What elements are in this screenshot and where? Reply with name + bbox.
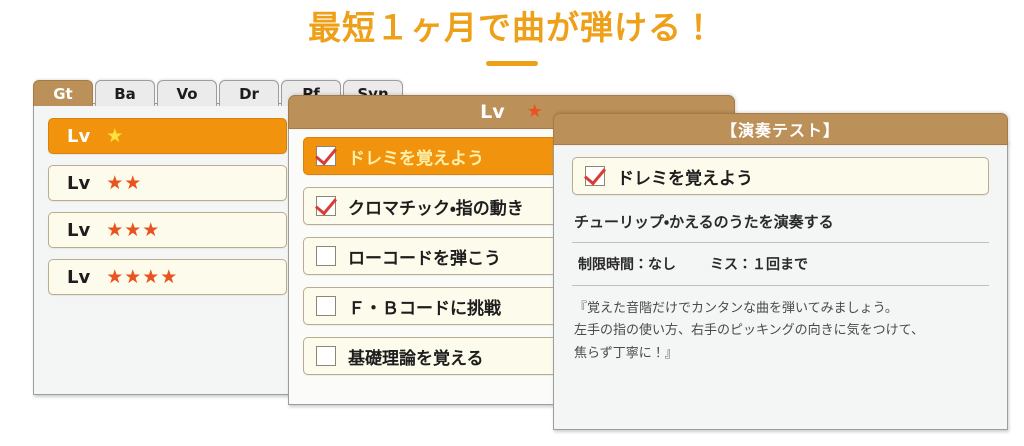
detail-objective-text: チューリップ・かえるのうたを演奏する xyxy=(572,195,989,243)
task-panel-header-label: Lv xyxy=(480,101,505,123)
task-row-5-label: 基礎理論を覚える xyxy=(348,344,484,369)
checkbox-unchecked-icon[interactable] xyxy=(316,346,336,366)
level-row-1-label: Lv xyxy=(67,126,90,147)
rule-miss-allowance: ミス：１回まで xyxy=(710,254,808,274)
task-row-2-label: クロマチック・指の動き xyxy=(348,194,524,219)
checkbox-checked-icon[interactable] xyxy=(585,166,605,186)
level-row-4[interactable]: Lv ★★★★ xyxy=(48,259,287,295)
test-panel-header-title: 【演奏テスト】 xyxy=(721,117,840,141)
detail-description-line-3: 焦らず丁寧に！』 xyxy=(574,343,987,365)
level-row-1-stars: ★ xyxy=(106,127,124,146)
checkbox-checked-icon[interactable] xyxy=(316,196,336,216)
tab-ba[interactable]: Ba xyxy=(95,80,155,106)
tab-ba-label: Ba xyxy=(114,85,136,103)
test-panel-header: 【演奏テスト】 xyxy=(553,113,1008,145)
tab-vo[interactable]: Vo xyxy=(157,80,217,106)
detail-description-line-1: 『覚えた音階だけでカンタンな曲を弾いてみましょう。 xyxy=(574,298,987,320)
detail-task-row[interactable]: ドレミを覚えよう xyxy=(572,157,989,195)
detail-rules: 制限時間：なし ミス：１回まで xyxy=(572,243,989,286)
test-detail-panel: ドレミを覚えよう チューリップ・かえるのうたを演奏する 制限時間：なし ミス：１… xyxy=(553,140,1008,430)
level-list: Lv ★ Lv ★★ Lv ★★★ Lv ★★★★ xyxy=(48,118,287,295)
rule-time-limit: 制限時間：なし xyxy=(578,254,676,274)
task-row-3-label: ローコードを弾こう xyxy=(348,244,501,269)
test-detail-body: ドレミを覚えよう チューリップ・かえるのうたを演奏する 制限時間：なし ミス：１… xyxy=(572,157,989,365)
title-underline-rule xyxy=(486,61,538,66)
task-row-4-label: Ｆ・Ｂコードに挑戦 xyxy=(348,294,501,319)
title-block: 最短１ヶ月で曲が弾ける！ xyxy=(0,0,1024,66)
checkbox-unchecked-icon[interactable] xyxy=(316,246,336,266)
level-row-3[interactable]: Lv ★★★ xyxy=(48,212,287,248)
detail-task-label: ドレミを覚えよう xyxy=(617,164,753,189)
level-row-1[interactable]: Lv ★ xyxy=(48,118,287,154)
level-select-panel: Lv ★ Lv ★★ Lv ★★★ Lv ★★★★ xyxy=(33,103,298,395)
detail-description: 『覚えた音階だけでカンタンな曲を弾いてみましょう。 左手の指の使い方、右手のピッ… xyxy=(572,286,989,365)
page-title: 最短１ヶ月で曲が弾ける！ xyxy=(0,0,1024,51)
tab-dr[interactable]: Dr xyxy=(219,80,279,106)
tab-vo-label: Vo xyxy=(176,85,197,103)
level-row-4-label: Lv xyxy=(67,267,90,288)
checkbox-checked-icon[interactable] xyxy=(316,146,336,166)
level-row-3-stars: ★★★ xyxy=(106,221,160,240)
level-row-2-label: Lv xyxy=(67,173,90,194)
checkbox-unchecked-icon[interactable] xyxy=(316,296,336,316)
tab-dr-label: Dr xyxy=(239,85,259,103)
detail-description-line-2: 左手の指の使い方、右手のピッキングの向きに気をつけて、 xyxy=(574,320,987,342)
star-icon: ★ xyxy=(527,103,543,121)
level-row-2[interactable]: Lv ★★ xyxy=(48,165,287,201)
level-row-3-label: Lv xyxy=(67,220,90,241)
level-row-4-stars: ★★★★ xyxy=(106,268,178,287)
tab-gt[interactable]: Gt xyxy=(33,80,93,106)
level-row-2-stars: ★★ xyxy=(106,174,142,193)
tab-gt-label: Gt xyxy=(53,85,72,103)
task-row-1-label: ドレミを覚えよう xyxy=(348,144,484,169)
